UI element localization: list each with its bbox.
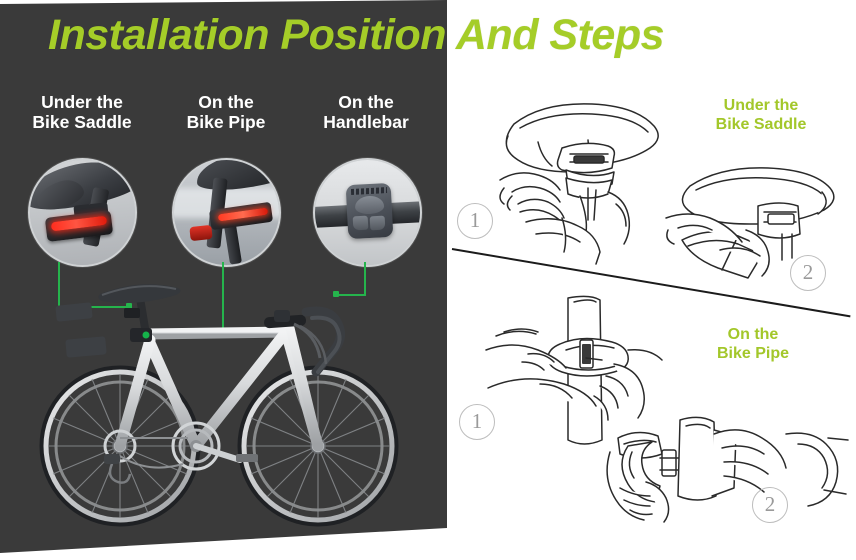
position-label-handlebar: On the Handlebar — [296, 92, 436, 133]
taillight-on-seatpost-photo — [172, 158, 281, 267]
step-badge-pipe-2: 2 — [752, 487, 788, 523]
remote-on-handlebar-photo — [313, 158, 422, 267]
infographic-root: Under the Bike Saddle On the Bike Pipe O… — [0, 0, 856, 560]
step-badge-pipe-1: 1 — [459, 404, 495, 440]
road-bike-illustration — [28, 268, 428, 538]
step-section-heading-pipe: On the Bike Pipe — [678, 325, 828, 363]
page-title: Installation Position And Steps — [48, 13, 848, 58]
taillight-under-saddle-photo — [28, 158, 137, 267]
position-label-saddle: Under the Bike Saddle — [8, 92, 156, 133]
position-label-pipe: On the Bike Pipe — [158, 92, 294, 133]
step-badge-saddle-2: 2 — [790, 255, 826, 291]
hands-sliding-light-into-pipe-mount-drawing — [602, 404, 854, 556]
step-section-heading-saddle: Under the Bike Saddle — [686, 96, 836, 134]
hands-sliding-light-into-saddle-mount-drawing — [662, 142, 856, 290]
hands-attaching-saddle-mount-drawing — [470, 92, 675, 267]
step-badge-saddle-1: 1 — [457, 203, 493, 239]
